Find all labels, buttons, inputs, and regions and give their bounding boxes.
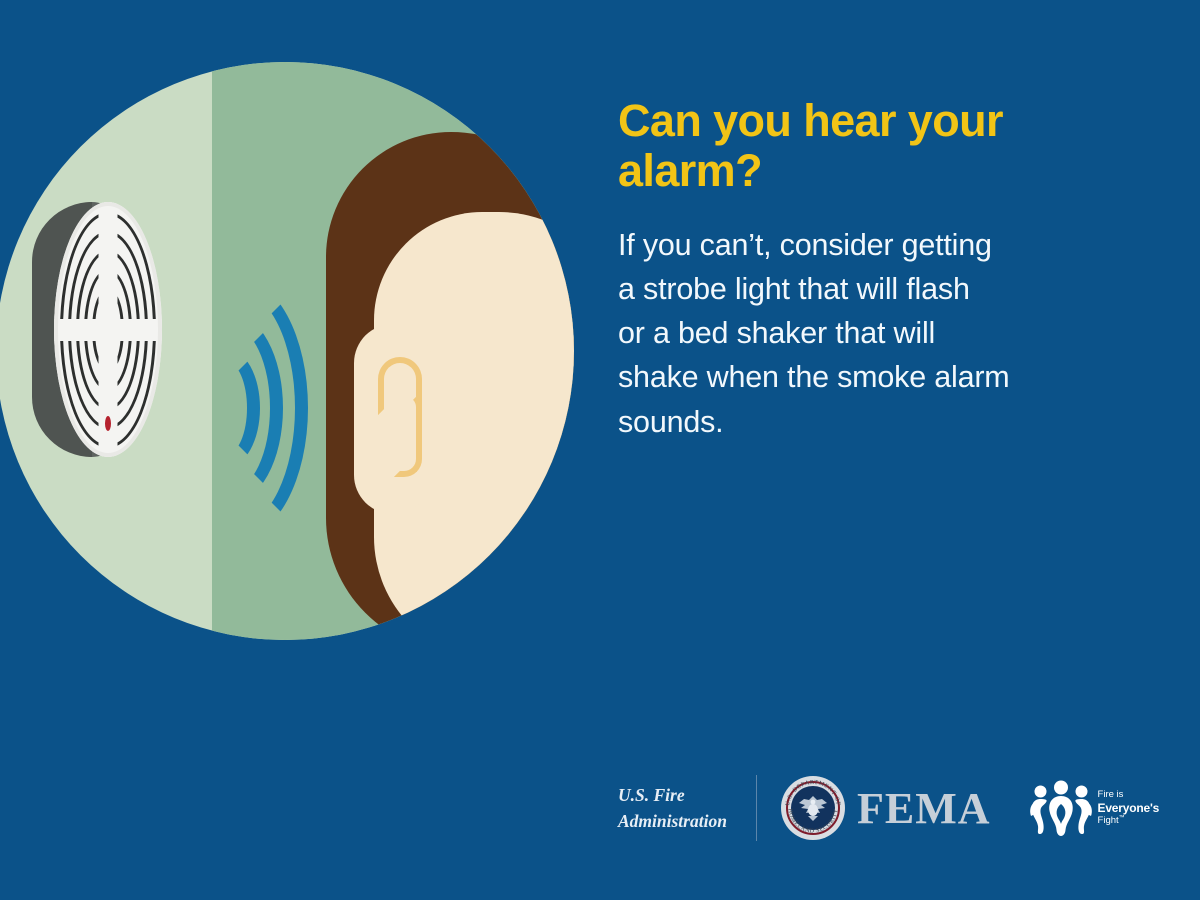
campaign-line-1: Fire is — [1098, 789, 1160, 801]
campaign-tagline: Fire is Everyone's Fight™ — [1098, 789, 1160, 827]
footer-divider — [756, 775, 757, 841]
usfa-wordmark: U.S. Fire Administration — [618, 782, 746, 835]
poster-canvas: Can you hear your alarm? If you can’t, c… — [0, 0, 1200, 900]
illustration-circle — [0, 62, 574, 640]
smoke-alarm — [32, 202, 162, 457]
campaign-line-3-text: Fight — [1098, 815, 1119, 826]
campaign-line-2: Everyone's — [1098, 801, 1160, 816]
body-text: If you can’t, consider getting a strobe … — [618, 223, 1158, 444]
fema-wordmark: FEMA — [857, 783, 991, 834]
soundwave-group — [174, 277, 334, 537]
dhs-arc-text-bottom: HOMELAND SECURITY — [786, 808, 839, 834]
svg-text:U.S. DEPARTMENT OF: U.S. DEPARTMENT OF — [785, 780, 841, 807]
svg-text:HOMELAND SECURITY: HOMELAND SECURITY — [786, 808, 839, 834]
copy-block: Can you hear your alarm? If you can’t, c… — [618, 96, 1158, 444]
footer-logo-bar: U.S. Fire Administration — [618, 775, 1178, 841]
ear-antihelix-curve — [394, 391, 422, 477]
campaign-line-3: Fight™ — [1098, 815, 1160, 827]
ear-inner-detail — [378, 357, 426, 485]
dhs-seal-icon: U.S. DEPARTMENT OF HOMELAND SECURITY — [781, 776, 845, 840]
trademark-symbol: ™ — [1119, 815, 1125, 821]
dhs-arc-text-top: U.S. DEPARTMENT OF — [785, 780, 841, 807]
fire-is-everyones-fight-logo: Fire is Everyone's Fight™ — [1029, 780, 1160, 836]
dhs-seal-lettering: U.S. DEPARTMENT OF HOMELAND SECURITY — [781, 776, 845, 840]
alarm-rim — [54, 202, 162, 457]
three-figures-flame-icon — [1029, 780, 1093, 836]
soundwave-arc-inner — [194, 349, 260, 467]
headline: Can you hear your alarm? — [618, 96, 1158, 197]
